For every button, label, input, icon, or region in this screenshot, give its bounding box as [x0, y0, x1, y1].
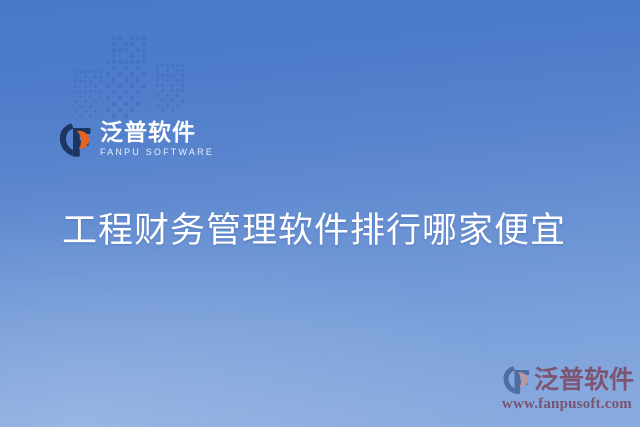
watermark-brand-name: 泛普软件 — [534, 366, 634, 394]
watermark: 泛普软件 www.fanpusoft.com — [488, 365, 634, 413]
page-title: 工程财务管理软件排行哪家便宜 — [62, 208, 566, 254]
watermark-logo-row: 泛普软件 — [488, 365, 634, 395]
brand-name-cn: 泛普软件 — [100, 120, 214, 145]
brand-name-en: FANPU SOFTWARE — [100, 146, 214, 158]
promo-banner: 泛普软件 FANPU SOFTWARE 工程财务管理软件排行哪家便宜 泛普软件 … — [0, 0, 640, 427]
watermark-fanpu-logo-mark-icon — [502, 365, 532, 395]
fanpu-logo-mark-icon — [58, 122, 94, 158]
brand-wordmark: 泛普软件 FANPU SOFTWARE — [100, 120, 214, 158]
dot-matrix-decoration-icon — [72, 34, 194, 122]
brand-logo: 泛普软件 FANPU SOFTWARE — [58, 120, 214, 158]
watermark-url: www.fanpusoft.com — [488, 396, 634, 413]
